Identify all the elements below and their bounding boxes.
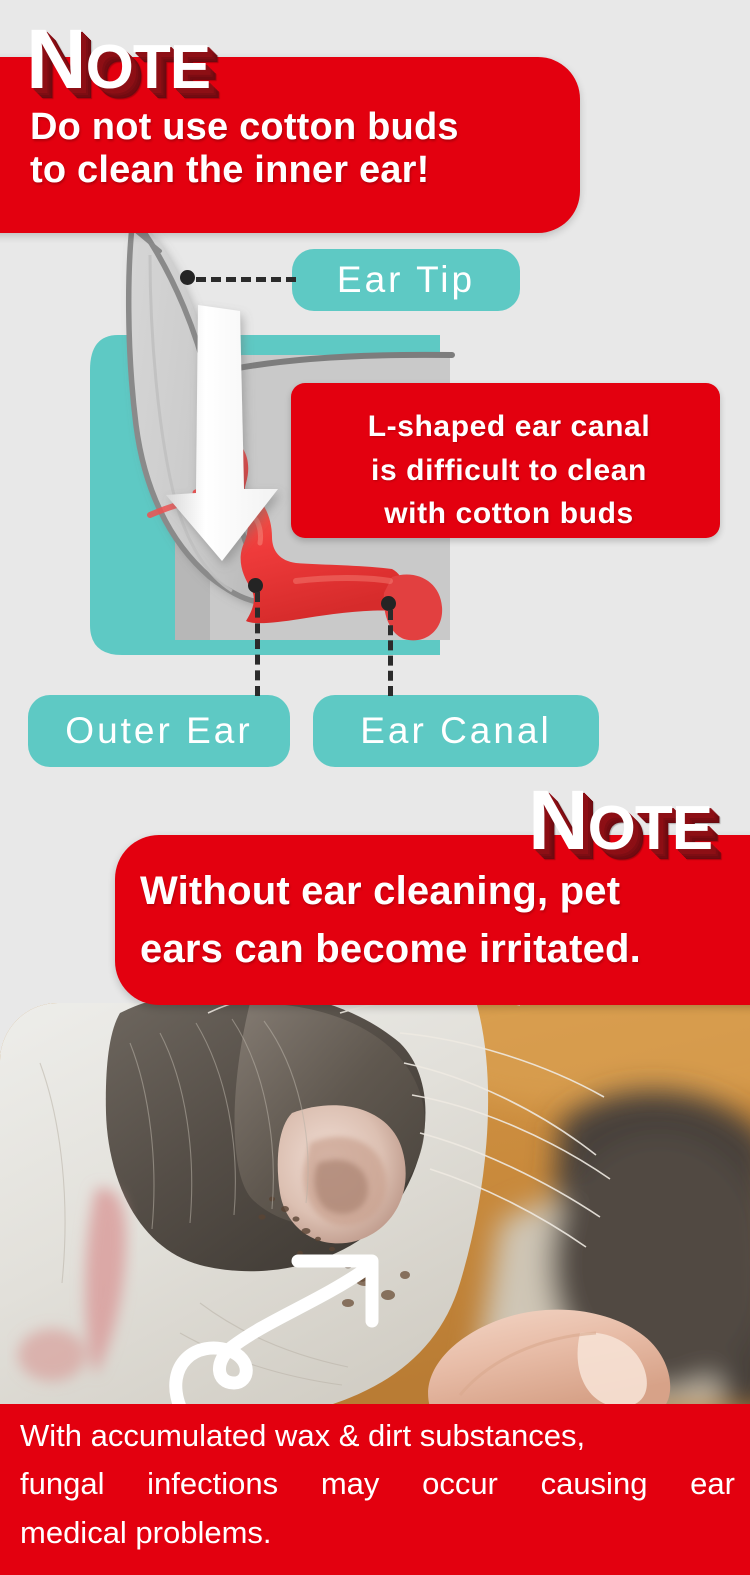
ear-tip-anchor-dot — [180, 270, 195, 285]
note-badge-top: NOTE — [26, 22, 210, 98]
caption-word: causing — [541, 1460, 648, 1508]
callout-line-3: with cotton buds — [305, 492, 713, 536]
ear-canal-anchor-dot — [381, 596, 396, 611]
infographic-page: Ear Tip Outer Ear Ear Canal NOTE Do not … — [0, 0, 750, 1575]
note-banner-top-text: Do not use cotton buds to clean the inne… — [30, 106, 590, 191]
ear-canal-leader-line — [388, 610, 393, 696]
callout-l-shaped-canal-text: L-shaped ear canal is difficult to clean… — [305, 405, 713, 536]
caption-word: fungal — [20, 1460, 104, 1508]
ear-tip-leader-line — [196, 277, 296, 282]
note-badge-bottom: NOTE — [528, 783, 712, 859]
bottom-caption-line-1: With accumulated wax & dirt substances, — [20, 1412, 735, 1460]
caption-word: occur — [422, 1460, 498, 1508]
caption-word: may — [321, 1460, 380, 1508]
note-banner-bottom-line-2: ears can become irritated. — [140, 920, 750, 978]
cat-ear-photo — [0, 1003, 750, 1407]
bottom-caption-line-3: medical problems. — [20, 1509, 735, 1557]
outer-ear-anchor-dot — [248, 578, 263, 593]
note-banner-top-line-1: Do not use cotton buds — [30, 106, 590, 149]
label-ear-canal: Ear Canal — [313, 695, 599, 767]
callout-line-2: is difficult to clean — [305, 449, 713, 493]
note-badge-bottom-rest: OTE — [588, 794, 712, 863]
note-badge-top-initial: N — [26, 12, 86, 106]
caption-word: ear — [690, 1460, 735, 1508]
label-outer-ear: Outer Ear — [28, 695, 290, 767]
label-ear-tip-text: Ear Tip — [337, 259, 475, 301]
note-banner-bottom-line-1: Without ear cleaning, pet — [140, 862, 750, 920]
label-ear-canal-text: Ear Canal — [360, 710, 552, 752]
note-banner-bottom-text: Without ear cleaning, pet ears can becom… — [140, 862, 750, 978]
callout-line-1: L-shaped ear canal — [305, 405, 713, 449]
note-badge-bottom-initial: N — [528, 773, 588, 867]
bottom-caption-line-2: fungal infections may occur causing ear — [20, 1460, 735, 1508]
photo-inner-ear-opening — [278, 1105, 406, 1243]
label-ear-tip: Ear Tip — [292, 249, 520, 311]
outer-ear-leader-line — [255, 592, 260, 696]
note-banner-top-line-2: to clean the inner ear! — [30, 149, 590, 192]
label-outer-ear-text: Outer Ear — [65, 710, 252, 752]
caption-word: infections — [147, 1460, 278, 1508]
bottom-caption-text: With accumulated wax & dirt substances, … — [20, 1412, 735, 1557]
note-badge-top-rest: OTE — [86, 33, 210, 102]
